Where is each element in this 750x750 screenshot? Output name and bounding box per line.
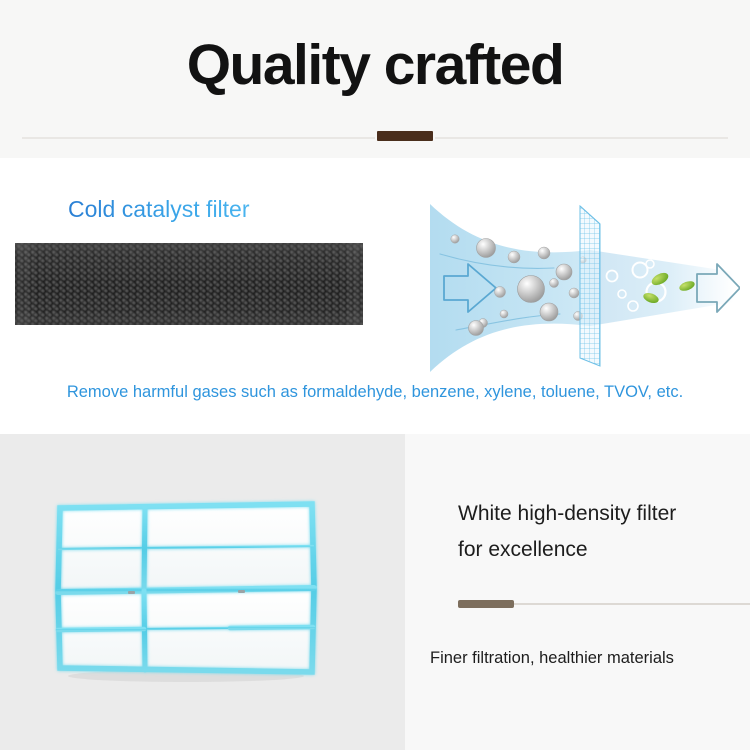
white-filter-heading-line1: White high-density filter xyxy=(458,496,738,532)
cold-catalyst-title: Cold catalyst filter xyxy=(68,196,250,223)
page-header: Quality crafted xyxy=(0,0,750,158)
cold-catalyst-section: Cold catalyst filter xyxy=(0,158,750,434)
header-divider-line xyxy=(22,137,728,139)
white-high-density-filter-image xyxy=(52,496,320,682)
airflow-filtration-diagram xyxy=(404,198,740,378)
dirty-air-stream xyxy=(430,204,590,372)
product-detail-page: Quality crafted Cold catalyst filter xyxy=(0,0,750,750)
white-filter-section: White high-density filter for excellence… xyxy=(0,434,750,750)
white-filter-text-panel: White high-density filter for excellence… xyxy=(405,434,750,750)
white-filter-subtitle: Finer filtration, healthier materials xyxy=(430,649,674,668)
header-accent-bar xyxy=(377,131,433,141)
filter-mesh-panel xyxy=(580,206,600,366)
cold-catalyst-caption: Remove harmful gases such as formaldehyd… xyxy=(0,383,750,402)
white-filter-image-panel xyxy=(0,434,405,750)
clean-air-stream xyxy=(590,250,734,326)
page-title: Quality crafted xyxy=(0,32,750,98)
white-filter-heading-line2: for excellence xyxy=(458,532,738,568)
white-filter-heading: White high-density filter for excellence xyxy=(458,496,738,568)
honeycomb-sheen-overlay xyxy=(15,243,363,325)
black-honeycomb-filter-image xyxy=(15,243,363,325)
white-filter-accent xyxy=(458,600,750,608)
white-filter-accent-bar xyxy=(458,600,514,608)
